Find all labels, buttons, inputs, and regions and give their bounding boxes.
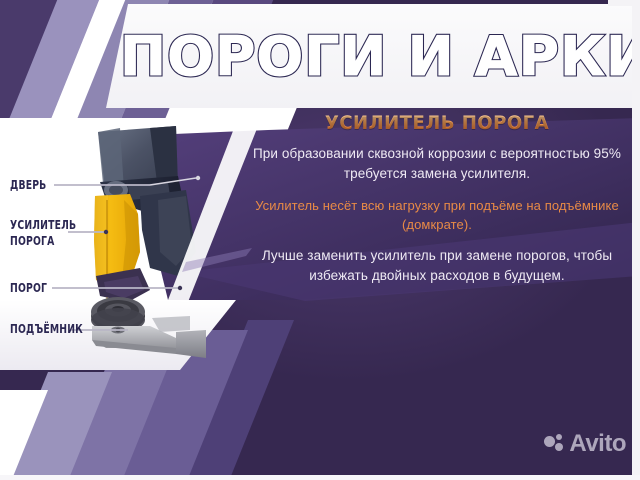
label-sill: ПОРОГ [10, 281, 47, 295]
paragraph-corrosion: При образовании сквозной коррозии с веро… [244, 144, 630, 184]
avito-logo-icon [544, 434, 566, 454]
label-sill-reinforcement-line1: УСИЛИТЕЛЬ [10, 218, 76, 232]
label-jack: ПОДЪЁМНИК [10, 322, 83, 336]
label-door: ДВЕРЬ [10, 178, 46, 192]
frame-edge-bottom [0, 475, 640, 480]
paragraph-load-warning: Усилитель несёт всю нагрузку при подъёме… [244, 196, 630, 234]
frame-edge-right [632, 0, 640, 480]
section-heading: УСИЛИТЕЛЬ ПОРОГА [254, 112, 621, 134]
avito-watermark: Avito [544, 430, 626, 458]
label-sill-reinforcement-line2: ПОРОГА [10, 234, 54, 248]
frame-edge-top [608, 0, 632, 6]
avito-wordmark: Avito [569, 430, 626, 458]
paragraph-replacement-advice: Лучше заменить усилитель при замене поро… [244, 246, 630, 286]
text-column: УСИЛИТЕЛЬ ПОРОГА При образовании сквозно… [244, 112, 630, 286]
page-title: ПОРОГИ И АРКИ [120, 26, 630, 88]
poster-canvas: ПОРОГИ И АРКИ ПОРОГИ И АРКИ ДВЕРЬ УСИЛИТ… [0, 0, 640, 480]
